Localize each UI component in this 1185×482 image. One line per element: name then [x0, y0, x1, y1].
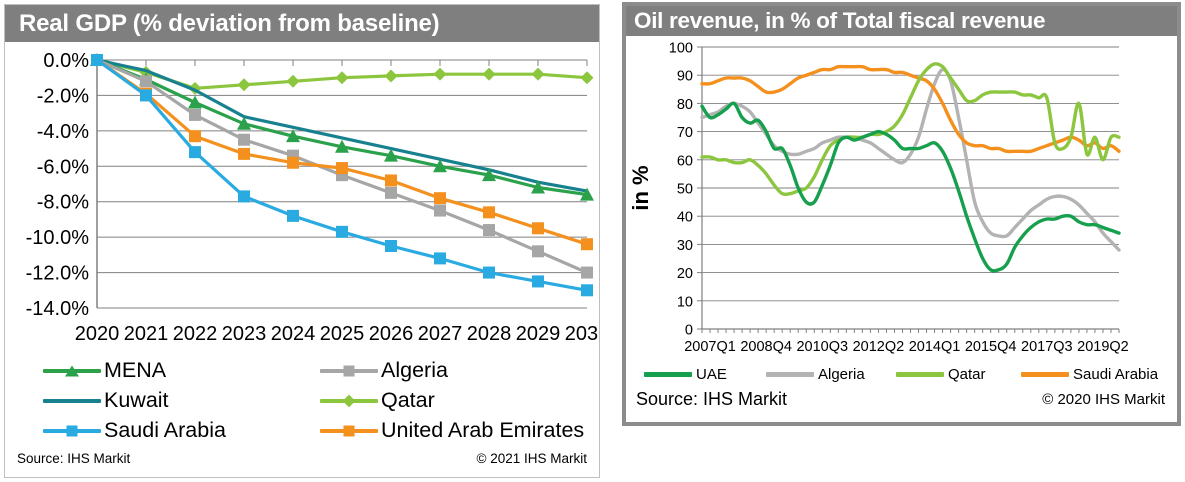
svg-text:2015Q4: 2015Q4: [965, 339, 1017, 355]
source-label: Source: IHS Markit: [17, 451, 130, 466]
oil-revenue-source-row: Source: IHS Markit © 2020 IHS Markit: [636, 389, 1165, 411]
legend-label-algeria: Algeria: [818, 366, 865, 383]
oil-revenue-panel: Oil revenue, in % of Total fiscal revenu…: [622, 2, 1181, 426]
svg-text:2007Q1: 2007Q1: [684, 339, 736, 355]
legend-label-qatar: Qatar: [381, 388, 435, 413]
svg-text:0: 0: [685, 323, 693, 339]
legend-swatch-algeria: [320, 369, 378, 373]
svg-text:2021: 2021: [124, 323, 169, 345]
svg-text:2023: 2023: [222, 323, 267, 345]
svg-text:-10.0%: -10.0%: [26, 227, 90, 249]
legend-item-algeria[interactable]: Algeria: [766, 366, 865, 383]
legend-item-uae[interactable]: UAE: [644, 366, 727, 383]
legend-item-saudi-arabia[interactable]: Saudi Arabia: [43, 418, 226, 443]
svg-text:2029: 2029: [516, 323, 561, 345]
real-gdp-svg: 0.0%-2.0%-4.0%-6.0%-8.0%-10.0%-12.0%-14.…: [5, 42, 599, 352]
legend-label-saudi-arabia: Saudi Arabia: [104, 418, 226, 443]
real-gdp-title: Real GDP (% deviation from baseline): [5, 5, 599, 42]
svg-text:2010Q3: 2010Q3: [796, 339, 848, 355]
svg-text:2019Q2: 2019Q2: [1077, 339, 1129, 355]
legend-item-kuwait[interactable]: Kuwait: [43, 388, 169, 413]
svg-text:2022: 2022: [173, 323, 218, 345]
legend-label-uae: United Arab Emirates: [381, 418, 584, 443]
svg-text:2024: 2024: [271, 323, 316, 345]
legend-swatch-mena: [43, 369, 101, 373]
svg-text:2012Q2: 2012Q2: [853, 339, 905, 355]
oil-revenue-plot: 01020304050607080901002007Q12008Q42010Q3…: [626, 36, 1177, 366]
oil-revenue-title: Oil revenue, in % of Total fiscal revenu…: [626, 6, 1177, 36]
svg-text:-4.0%: -4.0%: [37, 121, 89, 143]
svg-text:20: 20: [677, 266, 693, 282]
svg-text:0.0%: 0.0%: [43, 50, 89, 72]
source-label: Source: IHS Markit: [636, 389, 787, 410]
legend-swatch-uae: [644, 372, 692, 377]
svg-text:2028: 2028: [467, 323, 512, 345]
svg-text:-14.0%: -14.0%: [26, 298, 90, 320]
legend-item-qatar[interactable]: Qatar: [896, 366, 986, 383]
figure-root: Real GDP (% deviation from baseline) 0.0…: [0, 0, 1185, 482]
legend-swatch-saudi-arabia: [43, 429, 101, 433]
svg-text:-8.0%: -8.0%: [37, 192, 89, 214]
legend-swatch-qatar: [320, 399, 378, 403]
svg-text:2008Q4: 2008Q4: [740, 339, 792, 355]
legend-label-saudi-arabia: Saudi Arabia: [1073, 366, 1158, 383]
svg-text:80: 80: [677, 97, 693, 113]
copyright-label: © 2021 IHS Markit: [477, 451, 588, 466]
oil-revenue-svg: 01020304050607080901002007Q12008Q42010Q3…: [626, 36, 1177, 366]
svg-text:-2.0%: -2.0%: [37, 85, 89, 107]
svg-text:30: 30: [677, 238, 693, 254]
legend-item-uae[interactable]: United Arab Emirates: [320, 418, 584, 443]
svg-text:40: 40: [677, 210, 693, 226]
legend-swatch-qatar: [896, 372, 944, 377]
legend-swatch-algeria: [766, 372, 814, 377]
real-gdp-source-row: Source: IHS Markit © 2021 IHS Markit: [17, 451, 587, 469]
real-gdp-panel: Real GDP (% deviation from baseline) 0.0…: [4, 4, 600, 478]
svg-text:in %: in %: [628, 165, 653, 210]
legend-label-mena: MENA: [104, 358, 166, 383]
legend-item-saudi-arabia[interactable]: Saudi Arabia: [1021, 366, 1158, 383]
svg-text:90: 90: [677, 69, 693, 85]
svg-text:70: 70: [677, 125, 693, 141]
legend-label-uae: UAE: [696, 366, 727, 383]
legend-label-algeria: Algeria: [381, 358, 448, 383]
legend-swatch-saudi-arabia: [1021, 372, 1069, 377]
svg-text:2020: 2020: [75, 323, 120, 345]
svg-text:2027: 2027: [418, 323, 463, 345]
svg-text:10: 10: [677, 294, 693, 310]
svg-text:2026: 2026: [369, 323, 414, 345]
svg-text:50: 50: [677, 182, 693, 198]
svg-text:-6.0%: -6.0%: [37, 156, 89, 178]
legend-item-qatar[interactable]: Qatar: [320, 388, 435, 413]
legend-item-mena[interactable]: MENA: [43, 358, 166, 383]
copyright-label: © 2020 IHS Markit: [1042, 391, 1165, 408]
svg-text:2030: 2030: [565, 323, 599, 345]
svg-text:2014Q1: 2014Q1: [909, 339, 961, 355]
svg-text:2025: 2025: [320, 323, 365, 345]
svg-text:100: 100: [669, 41, 693, 57]
legend-item-algeria[interactable]: Algeria: [320, 358, 448, 383]
legend-swatch-kuwait: [43, 399, 101, 403]
legend-swatch-uae: [320, 429, 378, 433]
real-gdp-legend: MENA Kuwait Saudi Arabia Algeria Qatar U…: [5, 350, 599, 440]
legend-label-qatar: Qatar: [948, 366, 986, 383]
svg-text:2017Q3: 2017Q3: [1021, 339, 1073, 355]
svg-text:60: 60: [677, 153, 693, 169]
legend-label-kuwait: Kuwait: [104, 388, 169, 413]
real-gdp-plot: 0.0%-2.0%-4.0%-6.0%-8.0%-10.0%-12.0%-14.…: [5, 42, 599, 352]
svg-text:-12.0%: -12.0%: [26, 263, 90, 285]
